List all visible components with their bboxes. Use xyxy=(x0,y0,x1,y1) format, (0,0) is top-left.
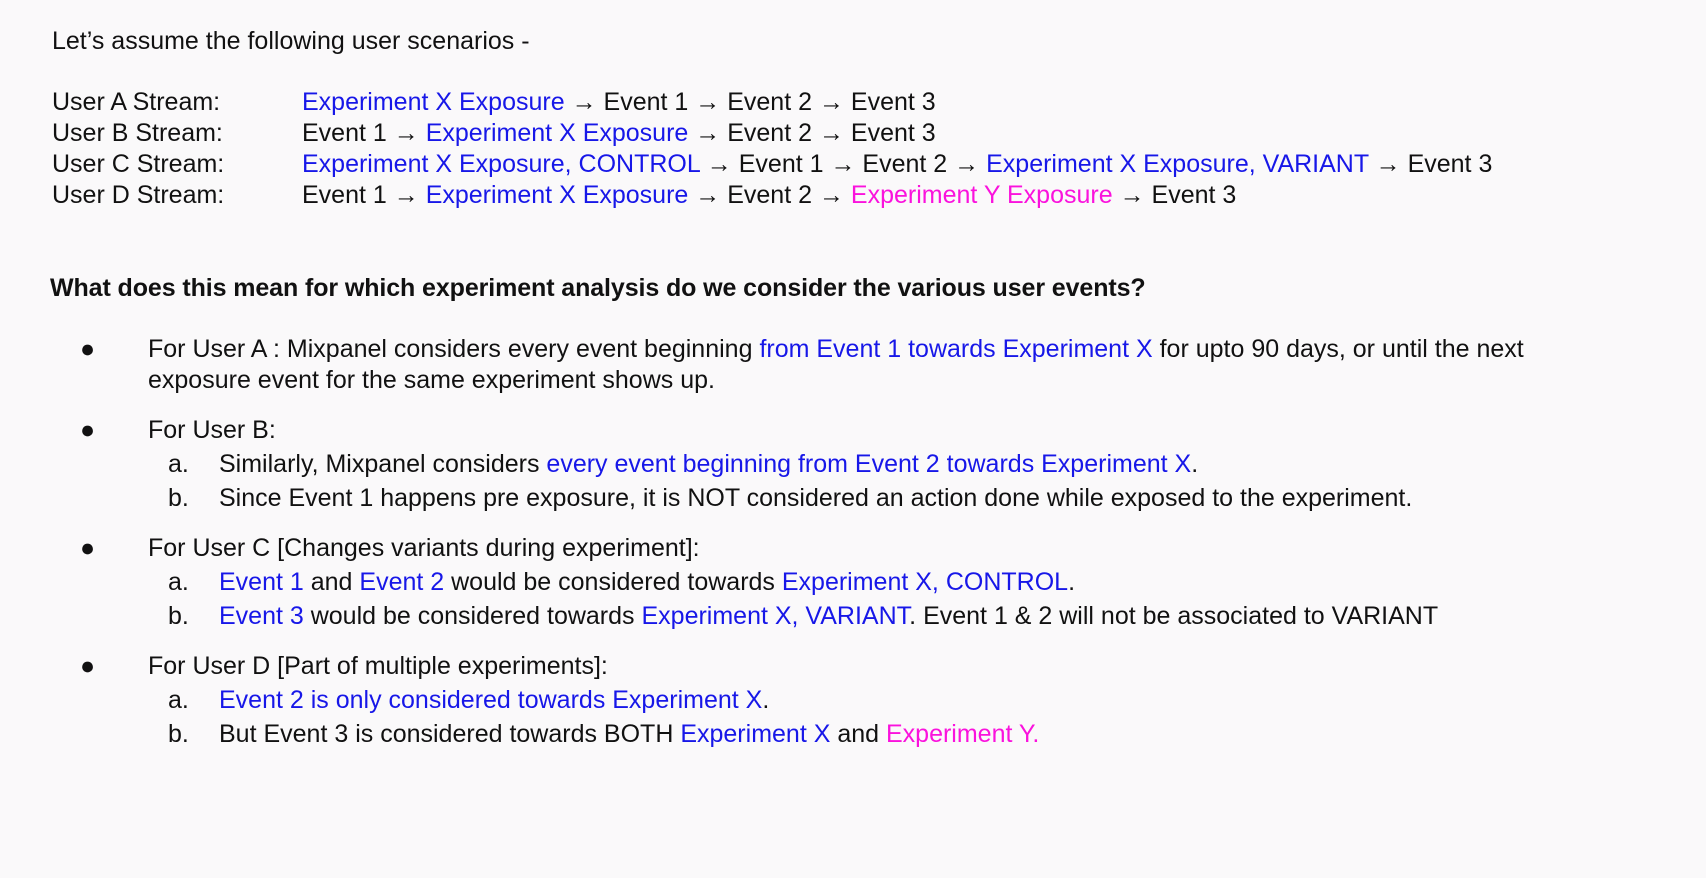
sub-list-text: Event 1 and Event 2 would be considered … xyxy=(219,567,1706,598)
bullet-0-segment-1: from Event 1 towards Experiment X xyxy=(759,335,1152,363)
stream-0-segment-4: Event 2 xyxy=(727,88,812,116)
stream-2-segment-5: → xyxy=(947,150,986,178)
bullet-3-segment-0: For User D [Part of multiple experiments… xyxy=(148,652,608,680)
bullet-2-sub-1-segment-0: Event 3 xyxy=(219,602,304,630)
stream-1-segment-0: Event 1 xyxy=(302,119,387,147)
sub-list-item: b.But Event 3 is considered towards BOTH… xyxy=(0,719,1706,750)
list-item: ●For User C [Changes variants during exp… xyxy=(0,533,1706,564)
bullet-3-sub-1-segment-3: Experiment Y. xyxy=(886,720,1039,748)
bullet-group: ●For User C [Changes variants during exp… xyxy=(0,533,1706,632)
stream-3-segment-4: Event 2 xyxy=(727,181,812,209)
sub-list-item: b.Event 3 would be considered towards Ex… xyxy=(0,601,1706,632)
bullet-2-sub-0-segment-4: Experiment X, CONTROL xyxy=(782,568,1068,596)
stream-3-segment-8: Event 3 xyxy=(1152,181,1237,209)
stream-1-segment-6: Event 3 xyxy=(851,119,936,147)
sub-list-marker: b. xyxy=(168,483,208,514)
stream-2-segment-4: Event 2 xyxy=(862,150,947,178)
stream-3-segment-2: Experiment X Exposure xyxy=(426,181,689,209)
bullet-2-sub-0-segment-2: Event 2 xyxy=(359,568,444,596)
sub-list-marker: a. xyxy=(168,685,208,716)
bullet-3-sub-0-segment-1: . xyxy=(762,686,769,714)
sub-list-item: a.Similarly, Mixpanel considers every ev… xyxy=(0,449,1706,480)
bullet-text: For User C [Changes variants during expe… xyxy=(148,533,1528,564)
bullet-text: For User A : Mixpanel considers every ev… xyxy=(148,334,1528,396)
stream-3-segment-1: → xyxy=(387,181,426,209)
stream-2-segment-3: → xyxy=(824,150,863,178)
sub-list-item: b.Since Event 1 happens pre exposure, it… xyxy=(0,483,1706,514)
stream-0-segment-3: → xyxy=(688,88,727,116)
stream-1-segment-5: → xyxy=(812,119,851,147)
stream-2-segment-0: Experiment X Exposure, CONTROL xyxy=(302,150,700,178)
sub-list-item: a.Event 2 is only considered towards Exp… xyxy=(0,685,1706,716)
stream-0-segment-6: Event 3 xyxy=(851,88,936,116)
bullet-2-sub-0-segment-3: would be considered towards xyxy=(444,568,782,596)
user-streams-block: User A Stream:Experiment X Exposure → Ev… xyxy=(52,87,1492,211)
list-item: ●For User A : Mixpanel considers every e… xyxy=(0,334,1706,396)
stream-label: User A Stream: xyxy=(52,87,302,118)
bullet-1-sub-0-segment-1: every event beginning from Event 2 towar… xyxy=(546,450,1191,478)
stream-2-segment-1: → xyxy=(700,150,739,178)
intro-paragraph: Let’s assume the following user scenario… xyxy=(52,24,530,58)
sub-list-marker: a. xyxy=(168,449,208,480)
stream-1-segment-4: Event 2 xyxy=(727,119,812,147)
bullet-1-sub-0-segment-0: Similarly, Mixpanel considers xyxy=(219,450,546,478)
stream-1-segment-2: Experiment X Exposure xyxy=(426,119,689,147)
stream-1-segment-1: → xyxy=(387,119,426,147)
bullet-0-segment-0: For User A : Mixpanel considers every ev… xyxy=(148,335,759,363)
stream-2-segment-7: → xyxy=(1369,150,1408,178)
stream-label: User C Stream: xyxy=(52,149,302,180)
stream-row: User D Stream:Event 1 → Experiment X Exp… xyxy=(52,180,1492,211)
sub-list-text: Event 3 would be considered towards Expe… xyxy=(219,601,1706,632)
section-question-heading: What does this mean for which experiment… xyxy=(50,272,1146,304)
list-item: ●For User D [Part of multiple experiment… xyxy=(0,651,1706,682)
stream-row: User C Stream:Experiment X Exposure, CON… xyxy=(52,149,1492,180)
bullet-2-sub-0-segment-1: and xyxy=(304,568,360,596)
bullet-group: ●For User D [Part of multiple experiment… xyxy=(0,651,1706,750)
bullet-1-sub-0-segment-2: . xyxy=(1191,450,1198,478)
stream-2-segment-2: Event 1 xyxy=(739,150,824,178)
stream-2-segment-8: Event 3 xyxy=(1408,150,1493,178)
bullet-2-sub-1-segment-3: . Event 1 & 2 will not be associated to … xyxy=(909,602,1438,630)
stream-1-segment-3: → xyxy=(688,119,727,147)
sub-list-text: Event 2 is only considered towards Exper… xyxy=(219,685,1706,716)
stream-0-segment-5: → xyxy=(812,88,851,116)
stream-row: User B Stream:Event 1 → Experiment X Exp… xyxy=(52,118,1492,149)
stream-flow: Experiment X Exposure → Event 1 → Event … xyxy=(302,87,936,118)
bullet-2-sub-0-segment-0: Event 1 xyxy=(219,568,304,596)
bullet-group: ●For User B:a.Similarly, Mixpanel consid… xyxy=(0,415,1706,514)
bullet-1-segment-0: For User B: xyxy=(148,416,276,444)
stream-3-segment-3: → xyxy=(688,181,727,209)
bullet-2-sub-1-segment-2: Experiment X, VARIANT xyxy=(641,602,909,630)
sub-list-marker: b. xyxy=(168,719,208,750)
bullet-3-sub-1-segment-0: But Event 3 is considered towards BOTH xyxy=(219,720,680,748)
bullet-point-icon: ● xyxy=(80,334,100,365)
bullet-group: ●For User A : Mixpanel considers every e… xyxy=(0,334,1706,396)
stream-3-segment-0: Event 1 xyxy=(302,181,387,209)
sub-list-text: Since Event 1 happens pre exposure, it i… xyxy=(219,483,1706,514)
sub-list-text: But Event 3 is considered towards BOTH E… xyxy=(219,719,1706,750)
bullet-point-icon: ● xyxy=(80,533,100,564)
sub-list-marker: b. xyxy=(168,601,208,632)
stream-row: User A Stream:Experiment X Exposure → Ev… xyxy=(52,87,1492,118)
bullet-point-icon: ● xyxy=(80,651,100,682)
list-item: ●For User B: xyxy=(0,415,1706,446)
bullet-text: For User D [Part of multiple experiments… xyxy=(148,651,1528,682)
stream-0-segment-0: Experiment X Exposure xyxy=(302,88,565,116)
stream-flow: Event 1 → Experiment X Exposure → Event … xyxy=(302,118,936,149)
bullet-2-sub-1-segment-1: would be considered towards xyxy=(304,602,642,630)
stream-3-segment-5: → xyxy=(812,181,851,209)
sub-list-text: Similarly, Mixpanel considers every even… xyxy=(219,449,1706,480)
analysis-bullet-list: ●For User A : Mixpanel considers every e… xyxy=(0,334,1706,769)
stream-0-segment-1: → xyxy=(565,88,604,116)
stream-3-segment-6: Experiment Y Exposure xyxy=(851,181,1113,209)
bullet-3-sub-1-segment-2: and xyxy=(830,720,886,748)
stream-flow: Event 1 → Experiment X Exposure → Event … xyxy=(302,180,1236,211)
bullet-point-icon: ● xyxy=(80,415,100,446)
bullet-3-sub-1-segment-1: Experiment X xyxy=(680,720,830,748)
stream-2-segment-6: Experiment X Exposure, VARIANT xyxy=(986,150,1369,178)
sub-list-marker: a. xyxy=(168,567,208,598)
stream-label: User D Stream: xyxy=(52,180,302,211)
stream-flow: Experiment X Exposure, CONTROL → Event 1… xyxy=(302,149,1492,180)
bullet-text: For User B: xyxy=(148,415,1528,446)
stream-3-segment-7: → xyxy=(1113,181,1152,209)
bullet-2-segment-0: For User C [Changes variants during expe… xyxy=(148,534,700,562)
stream-0-segment-2: Event 1 xyxy=(604,88,689,116)
stream-label: User B Stream: xyxy=(52,118,302,149)
sub-list-item: a.Event 1 and Event 2 would be considere… xyxy=(0,567,1706,598)
bullet-1-sub-1-segment-0: Since Event 1 happens pre exposure, it i… xyxy=(219,484,1412,512)
bullet-2-sub-0-segment-5: . xyxy=(1068,568,1075,596)
bullet-3-sub-0-segment-0: Event 2 is only considered towards Exper… xyxy=(219,686,762,714)
document-page: Let’s assume the following user scenario… xyxy=(0,0,1706,878)
